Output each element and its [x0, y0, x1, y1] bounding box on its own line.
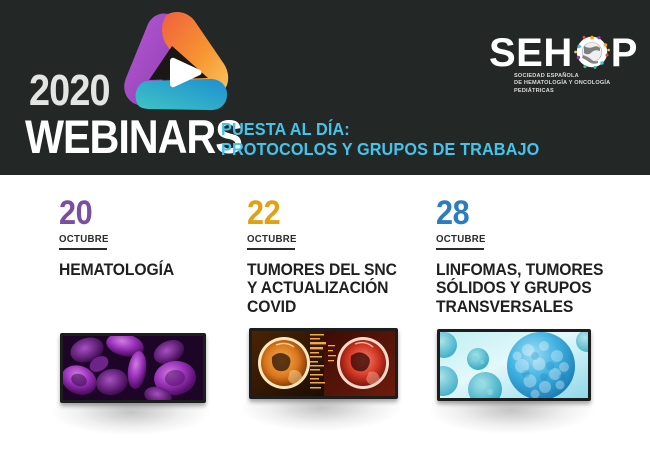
header-band: 2020 WEBINARS PUESTA AL DÍA: PROTOCOLOS …	[0, 0, 650, 175]
play-button-logo	[116, 6, 234, 118]
event-day-1: 20	[59, 197, 217, 229]
event-day-3: 28	[436, 197, 616, 229]
event-image-1	[60, 333, 206, 403]
event-card-2: 22 OCTUBRE TUMORES DEL SNC Y ACTUALIZACI…	[247, 197, 432, 316]
header-subtitle: PUESTA AL DÍA: PROTOCOLOS Y GRUPOS DE TR…	[221, 119, 539, 159]
event-divider-2	[247, 248, 295, 250]
sehop-subtitle-line2: DE HEMATOLOGÍA Y ONCOLOGÍA	[514, 80, 629, 87]
event-title-1-line1: HEMATOLOGÍA	[59, 261, 225, 280]
event-card-3: 28 OCTUBRE LINFOMAS, TUMORES SÓLIDOS Y G…	[436, 197, 636, 316]
sehop-subtitle: SOCIEDAD ESPAÑOLA DE HEMATOLOGÍA Y ONCOL…	[514, 73, 629, 95]
event-divider-1	[59, 248, 107, 250]
sehop-acronym: SEH P	[489, 33, 629, 73]
event-divider-3	[436, 248, 484, 250]
sehop-letter-p: P	[611, 33, 638, 73]
event-image-3	[437, 329, 591, 401]
sehop-subtitle-line3: PEDIÁTRICAS	[514, 88, 629, 95]
event-title-3-line1: LINFOMAS, TUMORES	[436, 261, 626, 280]
event-image-2	[249, 328, 398, 399]
event-month-1: OCTUBRE	[59, 233, 220, 245]
event-title-2: TUMORES DEL SNC Y ACTUALIZACIÓN COVID	[247, 261, 423, 317]
event-title-2-line1: TUMORES DEL SNC	[247, 261, 423, 280]
sehop-logo: SEH P SOCIEDAD ESPAÑOLA DE HEMATOLOGÍA Y…	[489, 33, 629, 105]
sehop-letters-seh: SEH	[489, 33, 573, 73]
event-title-3-line3: TRANSVERSALES	[436, 298, 626, 317]
event-title-3-line2: SÓLIDOS Y GRUPOS	[436, 279, 626, 298]
event-day-2: 22	[247, 197, 414, 229]
event-title-1: HEMATOLOGÍA	[59, 261, 225, 280]
event-title-2-line3: COVID	[247, 298, 423, 317]
header-subtitle-line2: PROTOCOLOS Y GRUPOS DE TRABAJO	[221, 139, 539, 159]
event-title-2-line2: Y ACTUALIZACIÓN	[247, 279, 423, 298]
globe-icon	[573, 33, 611, 71]
event-month-2: OCTUBRE	[247, 233, 417, 245]
page-title: WEBINARS	[25, 113, 242, 160]
event-month-3: OCTUBRE	[436, 233, 620, 245]
year-text: 2020	[29, 69, 110, 113]
event-title-3: LINFOMAS, TUMORES SÓLIDOS Y GRUPOS TRANS…	[436, 261, 626, 317]
event-card-1: 20 OCTUBRE HEMATOLOGÍA	[59, 197, 234, 279]
events-section: 20 OCTUBRE HEMATOLOGÍA 22 OCTUBRE TUMORE…	[0, 175, 650, 462]
header-subtitle-line1: PUESTA AL DÍA:	[221, 119, 350, 139]
